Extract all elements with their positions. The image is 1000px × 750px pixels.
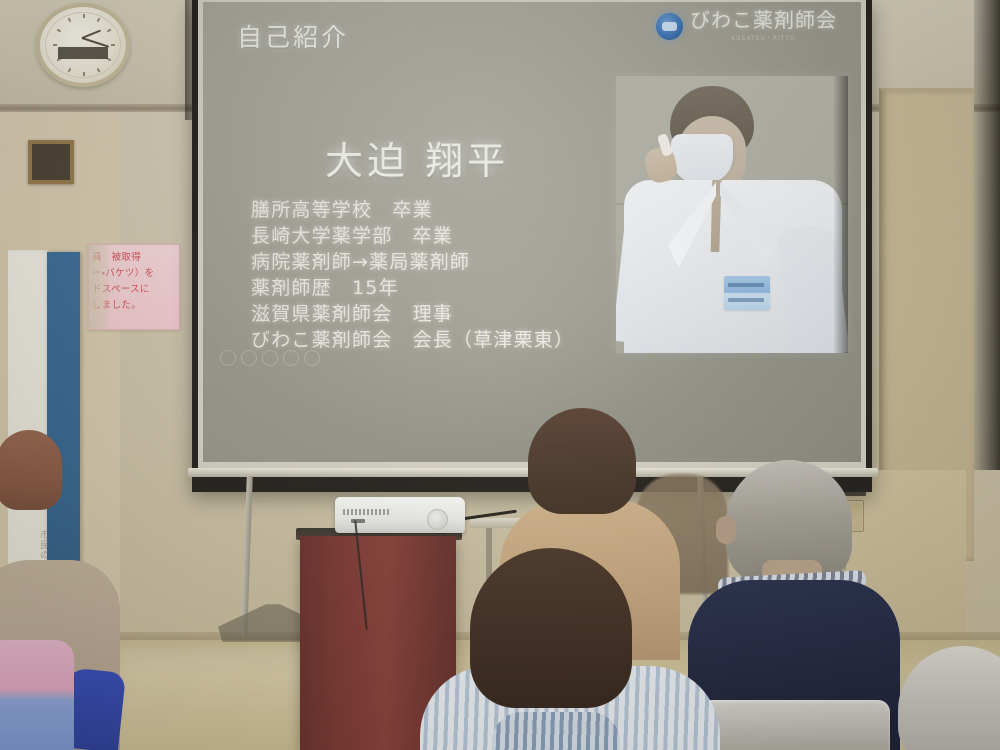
projector-vent bbox=[343, 509, 389, 515]
organization-logo-subtext: KUSATSU・RITTO bbox=[690, 33, 837, 42]
bio-line: 長崎大学薬学部 卒業 bbox=[251, 223, 574, 249]
person-center-back-head bbox=[528, 408, 636, 514]
presenter-photo bbox=[616, 76, 848, 353]
circle-icon bbox=[241, 350, 257, 366]
circle-icon bbox=[220, 350, 236, 366]
slide-footer-icons bbox=[220, 350, 320, 366]
badge-line bbox=[728, 283, 764, 287]
clock-date-band bbox=[58, 47, 108, 59]
jacket-on-chair bbox=[0, 640, 74, 750]
person-center-front-collar bbox=[492, 712, 620, 750]
clock-tick bbox=[83, 72, 85, 76]
circle-icon bbox=[283, 350, 299, 366]
wall-clock-icon bbox=[36, 3, 130, 87]
organization-logo-text: びわこ薬剤師会 bbox=[690, 10, 837, 30]
presenter-name: 大迫 翔平 bbox=[325, 130, 509, 185]
face-mask-icon bbox=[671, 134, 733, 184]
projector-button[interactable] bbox=[351, 519, 365, 523]
slide-title: 自己紹介 bbox=[237, 18, 349, 54]
wall-plaque bbox=[28, 140, 74, 184]
name-badge-icon bbox=[724, 276, 770, 310]
badge-line bbox=[728, 298, 764, 302]
folding-chair bbox=[700, 700, 890, 750]
clock-tick bbox=[83, 14, 85, 18]
circle-icon bbox=[262, 350, 278, 366]
person-left-head bbox=[0, 430, 62, 510]
projector-lens-icon bbox=[427, 509, 448, 530]
bio-line: 病院薬剤師→薬局薬剤師 bbox=[251, 249, 574, 275]
clock-tick bbox=[111, 44, 115, 46]
biwako-emblem-icon bbox=[656, 13, 683, 40]
pink-notice-sign: 員 被取得 ー・バケツ）を ドスペースに しました。 bbox=[88, 244, 180, 330]
presenter-bio-list: 膳所高等学校 卒業 長崎大学薬学部 卒業 病院薬剤師→薬局薬剤師 薬剤師歴 15… bbox=[251, 197, 574, 353]
presentation-slide: 自己紹介 びわこ薬剤師会 KUSATSU・RITTO 大迫 翔平 膳所高等学校 … bbox=[203, 2, 861, 462]
seminar-room-photo: 市民のすこやか学級第二回講座 員 被取得 ー・バケツ）を ドスペースに しました… bbox=[0, 0, 1000, 750]
bio-line: 膳所高等学校 卒業 bbox=[251, 197, 574, 223]
person-center-front-head bbox=[470, 548, 632, 708]
wall-right-edge bbox=[974, 0, 1000, 470]
sign-occlusion bbox=[88, 245, 109, 329]
circle-icon bbox=[304, 350, 320, 366]
bio-line: 薬剤師歴 15年 bbox=[251, 275, 574, 301]
person-right-ear bbox=[716, 516, 736, 544]
bio-line: 滋賀県薬剤師会 理事 bbox=[251, 301, 574, 327]
clock-tick bbox=[53, 44, 57, 46]
organization-logo: びわこ薬剤師会 KUSATSU・RITTO bbox=[656, 10, 837, 42]
photo-edge-shadow bbox=[834, 76, 848, 353]
